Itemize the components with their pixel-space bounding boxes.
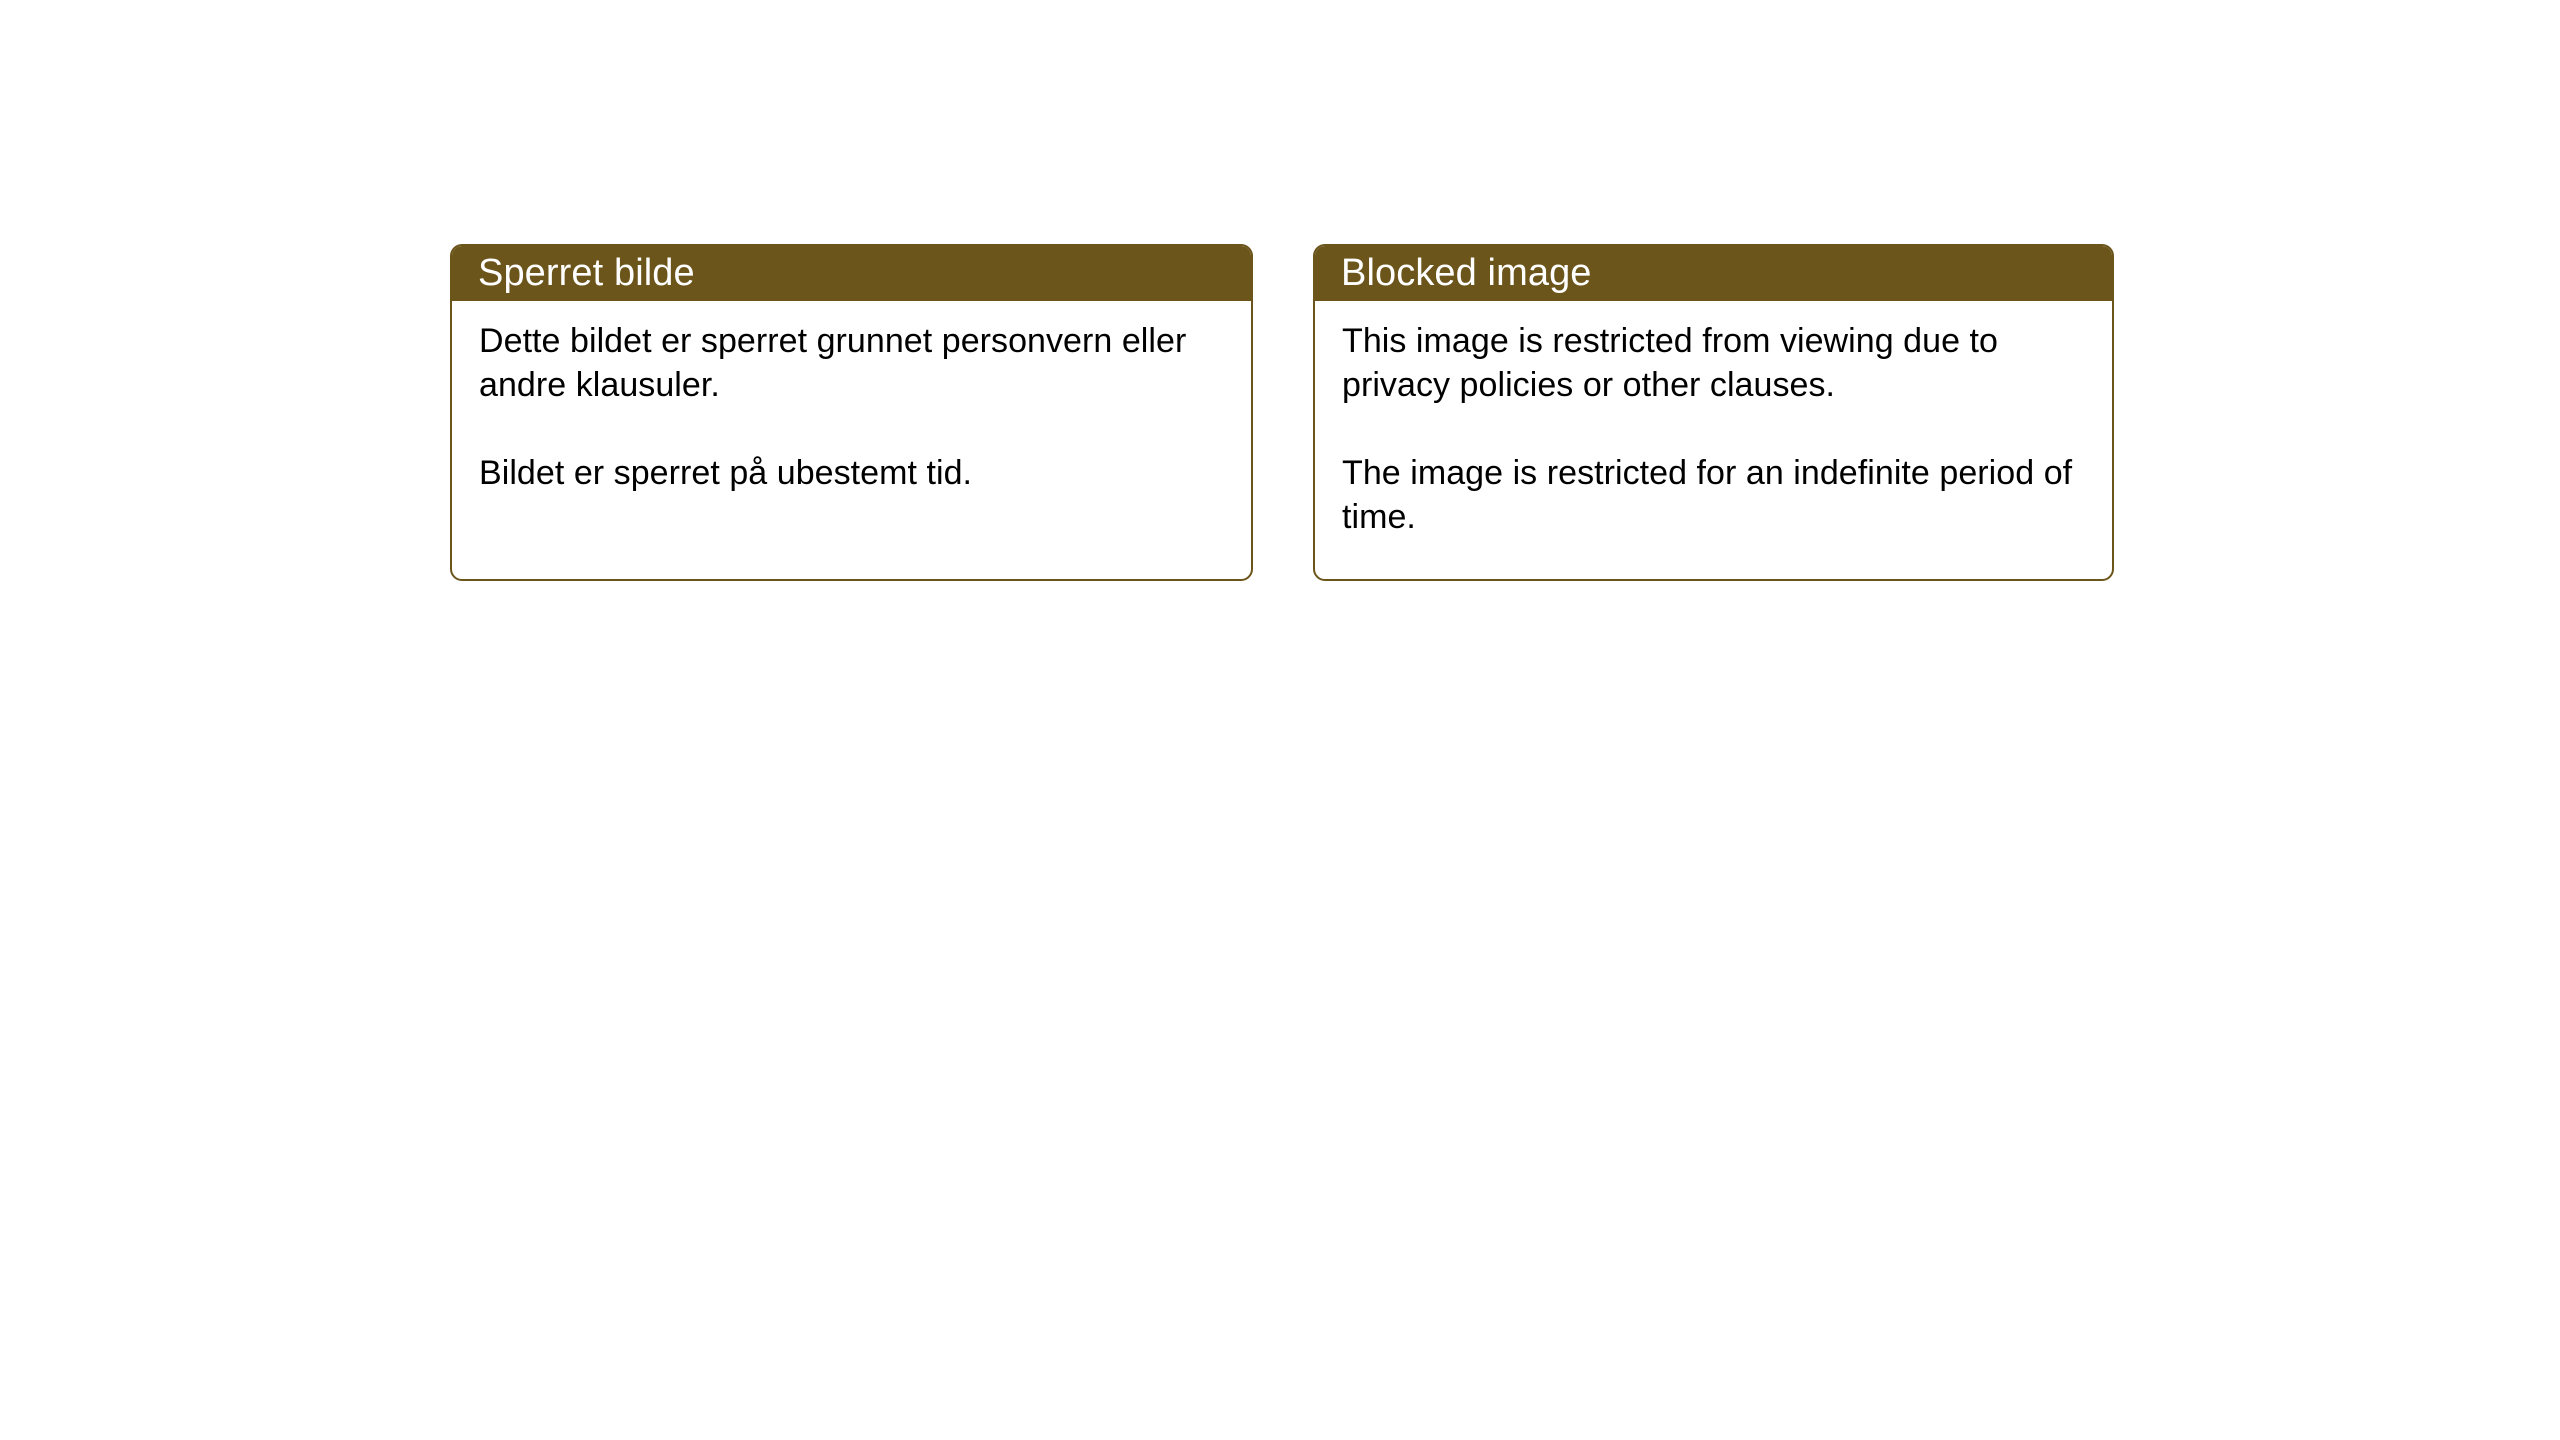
page-canvas: Sperret bilde Dette bildet er sperret gr… [0,0,2560,1440]
blocked-image-notice-card-english: Blocked image This image is restricted f… [1313,244,2114,581]
notice-card-paragraph-reason-english: This image is restricted from viewing du… [1342,319,2086,407]
notice-card-paragraph-duration-norwegian: Bildet er sperret på ubestemt tid. [479,451,1225,495]
notice-card-body-english: This image is restricted from viewing du… [1315,301,2112,539]
notice-card-title-english: Blocked image [1341,254,1592,292]
notice-card-header-norwegian: Sperret bilde [450,244,1253,301]
notice-card-paragraph-duration-english: The image is restricted for an indefinit… [1342,451,2086,539]
notice-card-title-norwegian: Sperret bilde [478,254,695,292]
notice-card-header-english: Blocked image [1313,244,2114,301]
blocked-image-notice-card-norwegian: Sperret bilde Dette bildet er sperret gr… [450,244,1253,581]
notice-card-paragraph-reason-norwegian: Dette bildet er sperret grunnet personve… [479,319,1225,407]
notice-card-body-norwegian: Dette bildet er sperret grunnet personve… [452,301,1251,495]
